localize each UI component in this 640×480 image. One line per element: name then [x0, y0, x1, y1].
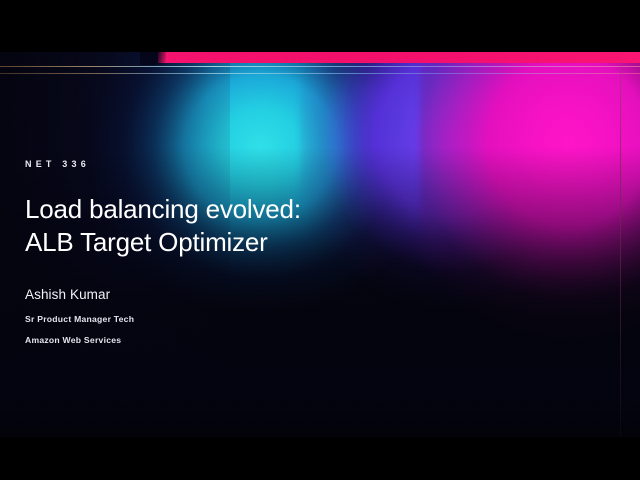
- accent-hairline-lower: [0, 73, 640, 74]
- right-vertical-rule: [620, 52, 621, 437]
- accent-hairline-upper: [0, 66, 640, 67]
- speaker-name: Ashish Kumar: [25, 287, 445, 303]
- speaker-role: Sr Product Manager Tech: [25, 314, 445, 324]
- slide-text-block: NET 336 Load balancing evolved: ALB Targ…: [25, 160, 445, 345]
- letterbox-bar-top: [0, 0, 640, 52]
- session-code-label: NET 336: [25, 160, 445, 169]
- slide-canvas: NET 336 Load balancing evolved: ALB Targ…: [0, 52, 640, 437]
- page-title: Load balancing evolved: ALB Target Optim…: [25, 193, 445, 260]
- stripe-left-wedge: [140, 52, 166, 65]
- title-line-1: Load balancing evolved:: [25, 193, 445, 226]
- letterbox-bar-bottom: [0, 437, 640, 480]
- speaker-organization: Amazon Web Services: [25, 335, 445, 345]
- slide-frame: NET 336 Load balancing evolved: ALB Targ…: [0, 0, 640, 480]
- title-line-2: ALB Target Optimizer: [25, 226, 445, 259]
- top-magenta-stripe: [158, 52, 640, 63]
